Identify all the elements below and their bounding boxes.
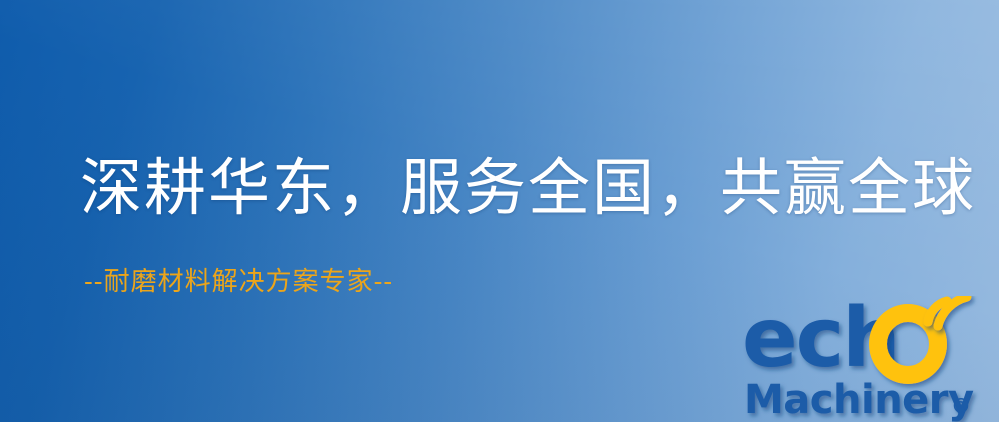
svg-text:Machinery: Machinery	[744, 377, 974, 422]
banner-headline: 深耕华东，服务全国，共赢全球	[80, 152, 976, 224]
hero-banner: 深耕华东，服务全国，共赢全球 --耐磨材料解决方案专家-- ech	[0, 0, 999, 422]
echo-machinery-logo: ech Machinery ®	[742, 296, 994, 422]
logo-tagline: Machinery ®	[744, 377, 974, 422]
banner-subtitle: --耐磨材料解决方案专家--	[84, 266, 393, 298]
svg-text:®: ®	[951, 394, 971, 418]
